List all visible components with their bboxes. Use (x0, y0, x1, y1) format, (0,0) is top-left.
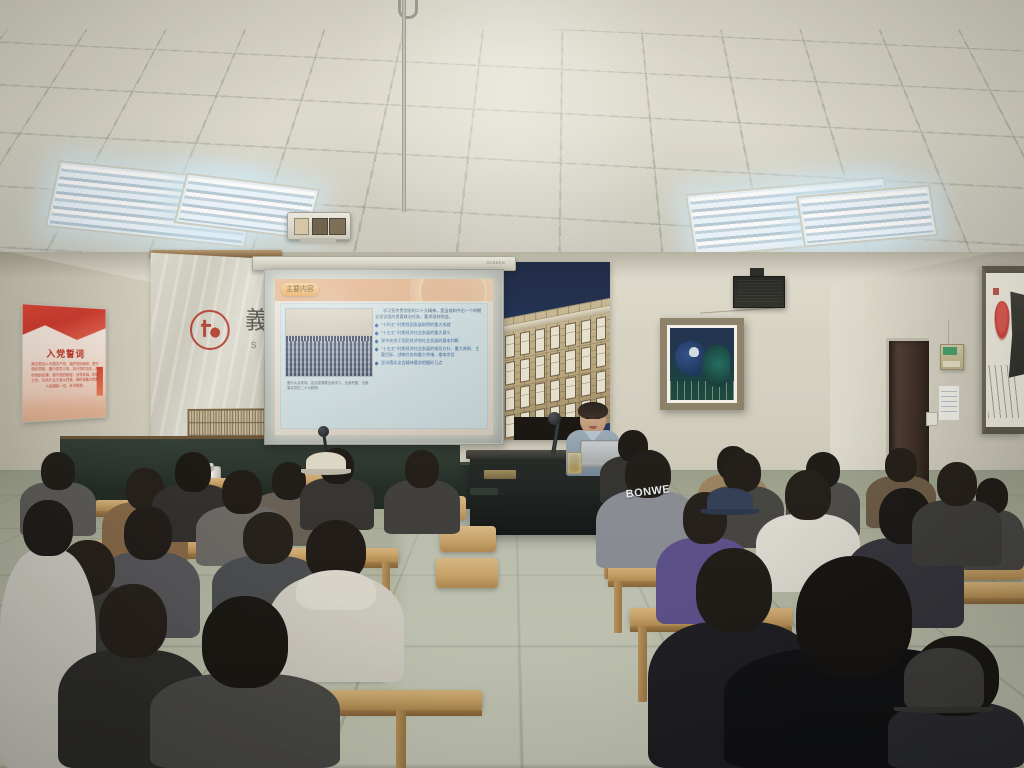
scroll-red-flower (994, 301, 1009, 341)
attendee-head (222, 470, 262, 514)
projector-lens-icon (294, 218, 309, 235)
desk-leg (638, 626, 647, 702)
slide-bullet-item: 坚决落实全会精神要求把握好几点 (375, 360, 483, 366)
slide-header-bar: 主要内容 (275, 279, 493, 301)
projection-screen: SCREEN 主要内容 图为大会现场。会议强调要全面学习、全面把握、全面落实党的… (252, 256, 514, 456)
slide-bullet-list: "十四五" 时期我国发展取得的重大成就 "十五五" 时期经济社会发展的重大意义 … (375, 322, 483, 366)
wall-mounted-utility-box[interactable] (940, 344, 964, 370)
projector-vent-icon (312, 218, 328, 235)
microphone-icon[interactable] (548, 412, 561, 425)
attendee (150, 596, 340, 768)
baseball-cap-beige-icon (306, 452, 346, 472)
chinese-ink-scroll-painting (982, 266, 1024, 434)
projector-mount-plate (300, 238, 336, 244)
utility-box-green-panel (943, 347, 957, 355)
slide-lead-paragraph: 学习宣传贯彻党的二十大精神，是当前和今后一个时期全党全国的首要政治任务，要求深刻… (375, 308, 483, 319)
red-seal-icon (190, 309, 230, 350)
attendee-head (937, 462, 977, 506)
attendee-head (202, 596, 288, 688)
desk-leg (396, 710, 406, 768)
attendee-head (41, 452, 75, 490)
attendee (912, 462, 1002, 566)
microphone-icon[interactable] (318, 426, 329, 437)
wall-mounted-speaker (733, 276, 785, 308)
projector-ceiling-hook (398, 0, 418, 19)
presenter-hair (578, 402, 608, 419)
light-switch[interactable] (926, 412, 938, 426)
party-oath-poster: 入党誓词 我志愿加入中国共产党，拥护党的纲领，遵守党的章程，履行党员义务，执行党… (22, 303, 107, 423)
screen-surface: 主要内容 图为大会现场。会议强调要全面学习、全面把握、全面落实党的二十大精神。 … (264, 269, 504, 445)
speaker-grill-icon (737, 280, 781, 304)
projector-vent-icon (329, 218, 346, 235)
presenter-eye (595, 417, 600, 419)
scroll-seal-icon (993, 288, 999, 295)
ceiling-glow (338, 0, 686, 272)
slide-title-badge: 主要内容 (281, 283, 319, 296)
slide-bullet-item: "十五五" 时期经济社会发展的指导方针、重大原则、主要目标、战略任务和重大举措、… (375, 346, 483, 357)
tea-glass[interactable] (567, 452, 582, 474)
painting-bloom (689, 347, 699, 357)
slide-left-column: 图为大会现场。会议强调要全面学习、全面把握、全面落实党的二十大精神。 (285, 308, 371, 424)
wall-notice-paper (938, 385, 960, 421)
slide-decorative-rings (419, 279, 487, 301)
chair-back (436, 558, 498, 588)
wall-box-conduit (948, 320, 949, 344)
scroll-grass-strokes (988, 365, 1018, 417)
conference-room-photo: 入党誓词 我志愿加入中国共产党，拥护党的纲领，遵守党的章程，履行党员义务，执行党… (0, 0, 1024, 768)
attendee-head (785, 470, 831, 520)
utility-box-label (943, 361, 960, 367)
screen-brand-label: SCREEN (487, 260, 505, 265)
framed-lotus-painting (660, 318, 744, 410)
slide-photo-caption: 图为大会现场。会议强调要全面学习、全面把握、全面落实党的二十大精神。 (285, 380, 371, 424)
slide-photo-crowd (286, 341, 372, 376)
suspended-ceiling (0, 0, 1024, 272)
slide-right-column: 学习宣传贯彻党的二十大精神，是当前和今后一个时期全党全国的首要政治任务，要求深刻… (375, 308, 483, 424)
attendee-body (150, 674, 340, 768)
desk-leg (614, 581, 622, 633)
projector-drop-rod (402, 0, 406, 212)
poster-title: 入党誓词 (23, 347, 106, 361)
painting-stems (670, 381, 734, 400)
painting-canvas (670, 328, 734, 400)
attendee-head (405, 450, 439, 488)
poster-body-text: 我志愿加入中国共产党，拥护党的纲领，遵守党的章程，履行党员义务，执行党的决定，严… (31, 362, 99, 390)
poster-base-gradient (23, 393, 106, 422)
slide-bullet-item: "十四五" 时期我国发展取得的重大成就 (375, 322, 483, 328)
red-flag-graphic (22, 303, 107, 344)
ceiling-projector[interactable] (287, 212, 351, 240)
desk-item (470, 488, 498, 495)
slide-bullet-item: 党中央关于国民经济和社会发展的基本判断 (375, 338, 483, 344)
slide-photo-congress (285, 308, 373, 377)
slide-body: 图为大会现场。会议强调要全面学习、全面把握、全面落实党的二十大精神。 学习宣传贯… (280, 303, 488, 429)
baseball-cap-navy-icon (707, 488, 753, 512)
knit-beanie-icon (904, 648, 984, 710)
slide-bullet-item: "十五五" 时期经济社会发展的重大意义 (375, 330, 483, 336)
projected-slide: 主要内容 图为大会现场。会议强调要全面学习、全面把握、全面落实党的二十大精神。 … (275, 279, 493, 435)
attendee-head (23, 500, 73, 556)
bookshelf-shelf (189, 423, 226, 435)
presenter-eye (585, 417, 590, 419)
name-plate (484, 470, 516, 479)
bookshelf-shelf (189, 411, 226, 423)
